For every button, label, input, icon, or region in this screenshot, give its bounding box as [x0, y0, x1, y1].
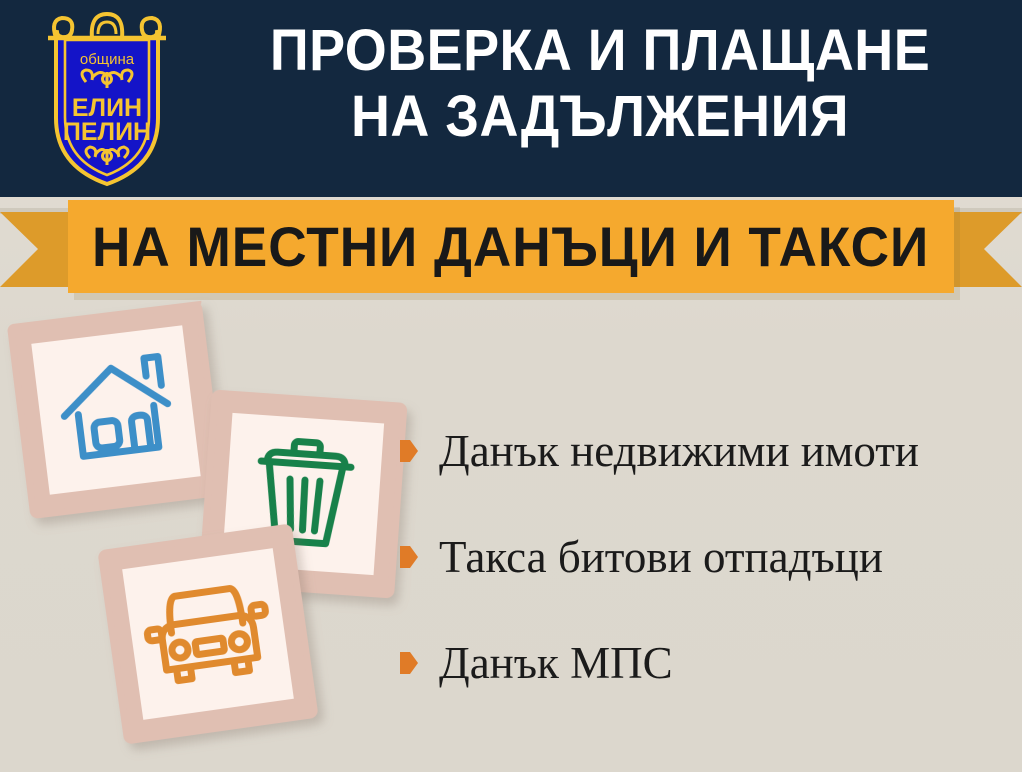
svg-text:ПЕЛИН: ПЕЛИН [63, 118, 151, 146]
header-banner: община ЕЛИН ПЕЛИН [0, 0, 1022, 197]
arrow-bullet-icon [400, 652, 418, 674]
ribbon-label: НА МЕСТНИ ДАНЪЦИ И ТАКСИ [92, 219, 929, 275]
stamp-card-property [7, 301, 225, 519]
stamp-card-vehicle [97, 523, 318, 744]
ribbon-body: НА МЕСТНИ ДАНЪЦИ И ТАКСИ [68, 200, 954, 293]
service-list: Данък недвижими имоти Такса битови отпад… [400, 424, 1010, 690]
list-item[interactable]: Данък недвижими имоти [400, 424, 1010, 478]
list-item-label: Такса битови отпадъци [439, 531, 883, 583]
page-title: ПРОВЕРКА И ПЛАЩАНЕ НА ЗАДЪЛЖЕНИЯ [217, 18, 983, 150]
subtitle-ribbon: НА МЕСТНИ ДАНЪЦИ И ТАКСИ [0, 196, 1022, 300]
list-item-label: Данък МПС [439, 637, 673, 689]
poster-root: община ЕЛИН ПЕЛИН [0, 0, 1022, 772]
list-item-label: Данък недвижими имоти [439, 425, 919, 477]
arrow-bullet-icon [400, 440, 418, 462]
list-item[interactable]: Данък МПС [400, 636, 1010, 690]
arrow-bullet-icon [400, 546, 418, 568]
svg-text:община: община [80, 51, 135, 68]
municipality-logo: община ЕЛИН ПЕЛИН [34, 8, 180, 190]
list-item[interactable]: Такса битови отпадъци [400, 530, 1010, 584]
